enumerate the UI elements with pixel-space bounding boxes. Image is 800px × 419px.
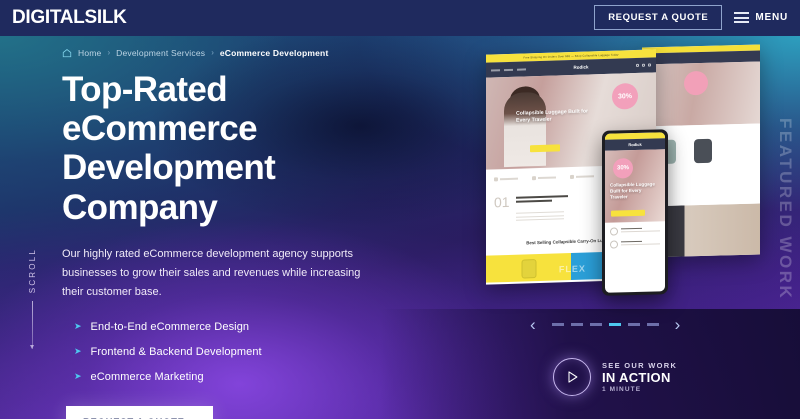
mockup-phone-heading: Collapsible Luggage Built for Every Trav…	[610, 181, 660, 201]
feature-label: End-to-End eCommerce Design	[91, 321, 250, 333]
down-arrow-icon	[32, 301, 33, 349]
carousel-dots	[552, 323, 659, 326]
breadcrumb-item-current: eCommerce Development	[220, 48, 329, 58]
video-cta-text: SEE OUR WORK IN ACTION 1 MINUTE	[602, 361, 677, 393]
mockup-banner-cta	[530, 144, 560, 152]
feature-label: eCommerce Marketing	[91, 371, 204, 383]
video-cta-duration: 1 MINUTE	[602, 386, 677, 393]
breadcrumb-item-development-services[interactable]: Development Services	[116, 48, 205, 58]
menu-label: MENU	[755, 12, 788, 23]
breadcrumb-item-home[interactable]: Home	[78, 48, 101, 58]
mockup-banner-heading: Collapsible Luggage Built for Every Trav…	[516, 108, 594, 124]
video-cta-eyebrow: SEE OUR WORK	[602, 361, 677, 370]
list-item: ➤ Frontend & Backend Development	[62, 346, 412, 358]
carousel-prev-button[interactable]: ‹	[530, 316, 536, 333]
mockup-phone: Rodick 30% Collapsible Luggage Built for…	[602, 129, 668, 296]
header-actions: REQUEST A QUOTE MENU	[594, 5, 790, 30]
breadcrumb-separator: ›	[211, 49, 214, 57]
video-cta[interactable]: SEE OUR WORK IN ACTION 1 MINUTE	[553, 358, 677, 396]
carousel-dot[interactable]	[552, 323, 564, 326]
list-item: ➤ End-to-End eCommerce Design	[62, 321, 412, 333]
home-icon[interactable]	[62, 48, 72, 58]
play-icon[interactable]	[553, 358, 591, 396]
carousel-dot[interactable]	[647, 323, 659, 326]
carousel-dot-active[interactable]	[609, 323, 621, 326]
page-root: DIGITALSILK REQUEST A QUOTE MENU	[0, 0, 800, 419]
page-title: Top-Rated eCommerce Development Company	[62, 70, 392, 227]
carousel-dot[interactable]	[628, 323, 640, 326]
breadcrumb: Home › Development Services › eCommerce …	[62, 48, 328, 58]
site-header: DIGITALSILK REQUEST A QUOTE MENU	[0, 0, 800, 36]
chevron-right-icon: ➤	[74, 347, 82, 356]
menu-toggle[interactable]: MENU	[734, 12, 790, 23]
list-item: ➤ eCommerce Marketing	[62, 371, 412, 383]
carousel-controls: ‹ ›	[530, 316, 680, 333]
mockup-watermark: FLEX	[559, 264, 586, 275]
scroll-indicator[interactable]: SCROLL	[28, 248, 37, 349]
feature-label: Frontend & Backend Development	[91, 346, 262, 358]
scroll-label: SCROLL	[28, 248, 37, 293]
site-logo[interactable]: DIGITALSILK	[12, 7, 127, 29]
header-request-quote-button[interactable]: REQUEST A QUOTE	[594, 5, 722, 30]
mockup-phone-brand: Rodick	[628, 142, 641, 147]
carousel-dot[interactable]	[571, 323, 583, 326]
featured-work-label: FEATURED WORK	[775, 118, 795, 300]
mockup-phone-badge: 30%	[613, 158, 633, 179]
hero-request-quote-button[interactable]: REQUEST A QUOTE ›	[66, 406, 213, 419]
featured-work-mockups: Free Shipping On Orders Over $99 — Shop …	[470, 20, 770, 320]
hero-feature-list: ➤ End-to-End eCommerce Design ➤ Frontend…	[62, 321, 412, 383]
mockup-sale-badge: 30%	[612, 83, 638, 110]
chevron-right-icon: ➤	[74, 372, 82, 381]
carousel-dot[interactable]	[590, 323, 602, 326]
hamburger-icon[interactable]	[734, 12, 749, 23]
mockup-brand: Rodick	[573, 64, 588, 69]
carousel-next-button[interactable]: ›	[675, 316, 681, 333]
hero-paragraph: Our highly rated eCommerce development a…	[62, 245, 374, 303]
chevron-right-icon: ➤	[74, 322, 82, 331]
video-cta-title: IN ACTION	[602, 371, 677, 385]
breadcrumb-separator: ›	[107, 49, 110, 57]
hero-content: Top-Rated eCommerce Development Company …	[62, 70, 412, 419]
